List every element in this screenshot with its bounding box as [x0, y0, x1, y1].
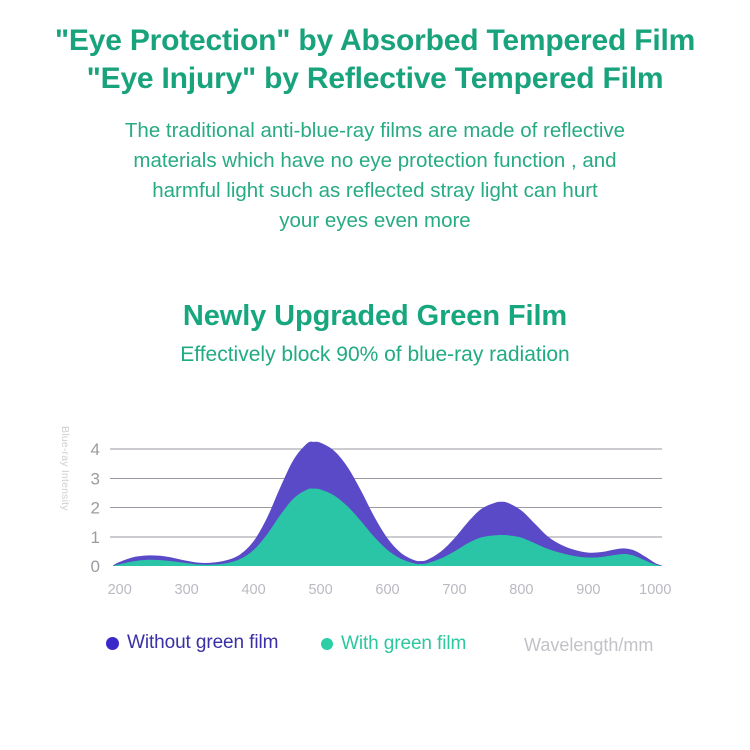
legend-label: Without green film [127, 632, 278, 654]
x-tick-label-500: 500 [308, 582, 332, 598]
x-tick-label-300: 300 [175, 582, 199, 598]
y-tick-label-4: 4 [91, 440, 100, 459]
legend-item-without-green-film[interactable]: Without green film [106, 632, 278, 654]
chart-x-tick-labels: 2003004005006007008009001000 [108, 582, 672, 598]
legend-dot-icon [106, 637, 119, 650]
x-tick-label-200: 200 [108, 582, 132, 598]
section-title: Newly Upgraded Green Film [0, 298, 750, 334]
intro-line-1: The traditional anti-blue-ray films are … [60, 116, 690, 146]
y-tick-label-0: 0 [91, 557, 100, 576]
legend-dot-icon [321, 638, 333, 650]
intro-line-4: your eyes even more [60, 206, 690, 236]
x-tick-label-600: 600 [375, 582, 399, 598]
chart-series-areas [113, 442, 662, 566]
y-tick-label-3: 3 [91, 469, 100, 488]
chart-y-tick-labels: 01234 [91, 440, 100, 576]
x-tick-label-800: 800 [509, 582, 533, 598]
chart-x-axis-caption: Wavelength/mm [524, 635, 653, 656]
chart-gridlines [110, 449, 662, 537]
x-tick-label-900: 900 [576, 582, 600, 598]
intro-line-2: materials which have no eye protection f… [60, 146, 690, 176]
x-tick-label-1000: 1000 [639, 582, 671, 598]
intro-line-3: harmful light such as reflected stray li… [60, 176, 690, 206]
y-tick-label-2: 2 [91, 499, 100, 518]
x-tick-label-400: 400 [241, 582, 265, 598]
page-root: "Eye Protection" by Absorbed Tempered Fi… [0, 0, 750, 750]
y-axis-title: Blue-ray Intensity [59, 426, 71, 511]
headline-block: "Eye Protection" by Absorbed Tempered Fi… [0, 0, 750, 98]
intro-paragraph: The traditional anti-blue-ray films are … [60, 116, 690, 236]
chart-legend: Without green film With green film Wavel… [0, 632, 750, 666]
headline-line-2: "Eye Injury" by Reflective Tempered Film [0, 60, 750, 98]
chart-y-axis-label: Blue-ray Intensity [59, 426, 71, 511]
legend-item-with-green-film[interactable]: With green film [321, 633, 466, 655]
series-area-without-green-film [113, 442, 662, 566]
section-heading-block: Newly Upgraded Green Film Effectively bl… [0, 298, 750, 371]
legend-label: With green film [341, 633, 466, 655]
x-tick-label-700: 700 [442, 582, 466, 598]
y-tick-label-1: 1 [91, 528, 100, 547]
headline-line-1: "Eye Protection" by Absorbed Tempered Fi… [0, 22, 750, 60]
section-subtitle: Effectively block 90% of blue-ray radiat… [0, 339, 750, 371]
